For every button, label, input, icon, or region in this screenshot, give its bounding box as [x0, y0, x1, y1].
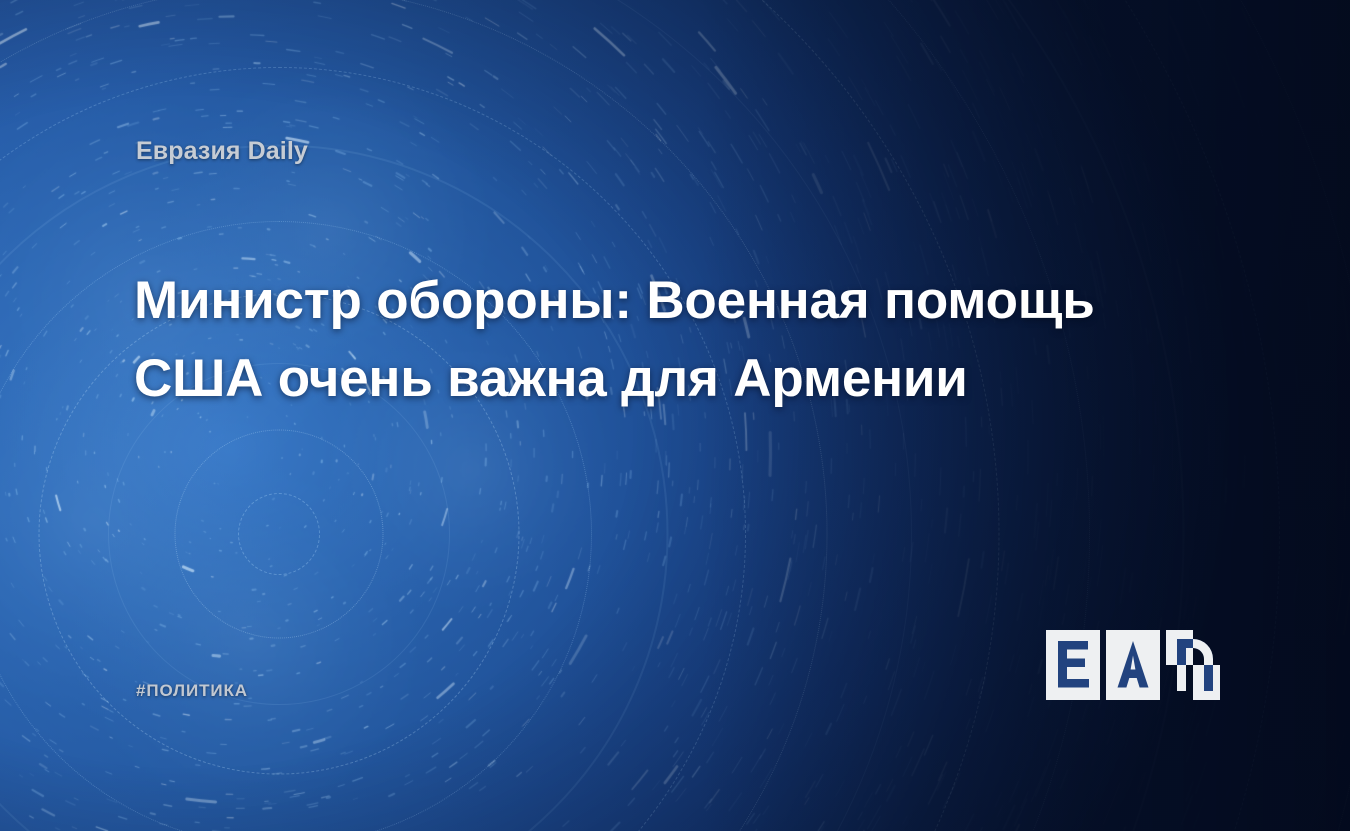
letter-e-icon [1046, 630, 1100, 700]
page-title: Министр обороны: Военная помощь США очен… [134, 262, 1114, 418]
letter-d-quadrant-icon [1166, 630, 1220, 700]
logo-tile-d [1166, 630, 1220, 700]
eadaily-logo-mark[interactable] [1046, 630, 1220, 700]
category-tag[interactable]: #ПОЛИТИКА [136, 681, 248, 701]
logo-tile-e [1046, 630, 1100, 700]
news-card: Евразия Daily Министр обороны: Военная п… [0, 0, 1350, 831]
logo-tile-a [1106, 630, 1160, 700]
site-brand-name: Евразия Daily [136, 137, 308, 166]
letter-a-icon [1106, 630, 1160, 700]
card-content: Евразия Daily Министр обороны: Военная п… [0, 0, 1350, 831]
